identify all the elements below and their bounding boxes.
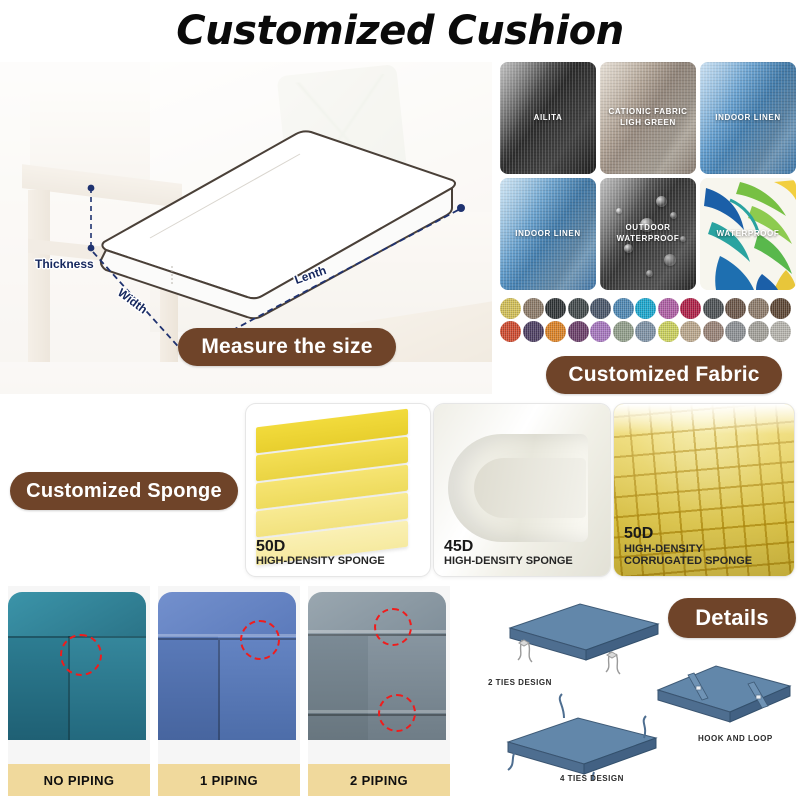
fabric-color-swatch-grid [500,298,796,344]
highlight-circle [374,608,412,646]
fabric-tile-indoor-linen-1[interactable]: INDOOR LINEN [700,62,796,174]
color-swatch[interactable] [590,298,611,319]
fabric-tile-cationic-caption: CATIONIC FABRICLIGH GREEN [604,107,691,129]
sponge-card-1-density: 50D [256,539,385,556]
sponge-card-45d-high-density[interactable]: 45D HIGH-DENSITY SPONGE [434,404,610,576]
color-swatch[interactable] [770,298,791,319]
color-swatch[interactable] [613,321,634,342]
color-swatch[interactable] [590,321,611,342]
details-panel: Details 2 TIES DESIGN [456,584,800,800]
fabric-tile-waterproof-print-caption: WATERPROOF [713,229,784,240]
fabric-tile-outdoor-waterproof[interactable]: OUTDOORWATERPROOF [600,178,696,290]
fabric-tile-cationic-fabric-ligh-green[interactable]: CATIONIC FABRICLIGH GREEN [600,62,696,174]
piping-and-details-panel: NO PIPING 1 PIPING [0,584,800,800]
illustration-hook-and-loop [650,656,800,736]
piping-label-1-piping: 1 PIPING [158,764,300,796]
piping-photo-no-piping [8,586,150,764]
color-swatch[interactable] [748,298,769,319]
details-label-hook-and-loop: HOOK AND LOOP [698,734,773,743]
illustration-2-ties-design [488,598,674,676]
sponge-card-3-caption: 50D HIGH-DENSITYCORRUGATED SPONGE [624,526,752,568]
highlight-circle [60,634,102,676]
badge-details: Details [668,598,796,638]
sponge-card-2-description: HIGH-DENSITY SPONGE [444,555,573,568]
color-swatch[interactable] [748,321,769,342]
sponge-card-3-description: HIGH-DENSITYCORRUGATED SPONGE [624,543,752,568]
color-swatch[interactable] [703,298,724,319]
page-title: Customized Cushion [0,0,800,62]
sponge-card-1-caption: 50D HIGH-DENSITY SPONGE [256,539,385,568]
swatch-row-1 [500,298,796,319]
sponge-card-2-caption: 45D HIGH-DENSITY SPONGE [444,539,573,568]
customized-fabric-panel: AILITA CATIONIC FABRICLIGH GREEN INDOOR … [492,62,800,394]
piping-label-no-piping: NO PIPING [8,764,150,796]
piping-photo-2-piping [308,586,450,764]
fabric-tile-indoor-linen-2[interactable]: INDOOR LINEN [500,178,596,290]
color-swatch[interactable] [613,298,634,319]
fabric-tile-waterproof-print[interactable]: WATERPROOF [700,178,796,290]
piping-photo-1-piping [158,586,300,764]
fabric-tile-ailita[interactable]: AILITA [500,62,596,174]
sponge-card-1-description: HIGH-DENSITY SPONGE [256,555,385,568]
customized-sponge-panel: Customized Sponge 50D HIGH-DENSITY SPONG… [0,396,800,582]
fabric-tile-grid: AILITA CATIONIC FABRICLIGH GREEN INDOOR … [500,62,800,294]
color-swatch[interactable] [658,298,679,319]
fabric-tile-indoor-linen-2-caption: INDOOR LINEN [511,229,584,240]
sponge-card-2-density: 45D [444,539,573,556]
color-swatch[interactable] [523,321,544,342]
piping-label-2-piping: 2 PIPING [308,764,450,796]
color-swatch[interactable] [568,298,589,319]
color-swatch[interactable] [635,298,656,319]
piping-card-2-piping[interactable]: 2 PIPING [308,586,450,798]
color-swatch[interactable] [568,321,589,342]
badge-measure-the-size: Measure the size [178,328,396,366]
piping-card-1-piping[interactable]: 1 PIPING [158,586,300,798]
sponge-card-50d-corrugated[interactable]: 50D HIGH-DENSITYCORRUGATED SPONGE [614,404,794,576]
color-swatch[interactable] [703,321,724,342]
badge-customized-fabric: Customized Fabric [546,356,782,394]
fabric-tile-ailita-caption: AILITA [530,113,567,124]
fabric-tile-outdoor-waterproof-caption: OUTDOORWATERPROOF [613,223,684,245]
color-swatch[interactable] [680,321,701,342]
infographic-page: Customized Cushion [0,0,800,800]
badge-customized-fabric-label: Customized Fabric [568,363,759,387]
piping-card-no-piping[interactable]: NO PIPING [8,586,150,798]
badge-customized-sponge-label: Customized Sponge [26,480,222,503]
color-swatch[interactable] [523,298,544,319]
details-label-4-ties-design: 4 TIES DESIGN [560,774,624,783]
color-swatch[interactable] [725,321,746,342]
fabric-tile-indoor-linen-1-caption: INDOOR LINEN [711,113,784,124]
badge-measure-the-size-label: Measure the size [201,335,372,359]
highlight-circle [240,620,280,660]
details-label-2-ties-design: 2 TIES DESIGN [488,678,552,687]
cushion-2-ties-svg [488,598,674,676]
dimension-label-thickness: Thickness [35,257,94,271]
sponge-card-50d-high-density[interactable]: 50D HIGH-DENSITY SPONGE [246,404,430,576]
badge-customized-sponge: Customized Sponge [10,472,238,510]
color-swatch[interactable] [680,298,701,319]
badge-details-label: Details [695,605,769,631]
color-swatch[interactable] [500,298,521,319]
sponge-card-3-density: 50D [624,526,752,543]
color-swatch[interactable] [770,321,791,342]
color-swatch[interactable] [635,321,656,342]
highlight-circle [378,694,416,732]
swatch-row-2 [500,321,796,342]
cushion-hook-loop-svg [650,656,800,736]
color-swatch[interactable] [545,321,566,342]
page-title-text: Customized Cushion [176,8,623,54]
color-swatch[interactable] [500,321,521,342]
color-swatch[interactable] [725,298,746,319]
color-swatch[interactable] [545,298,566,319]
color-swatch[interactable] [658,321,679,342]
